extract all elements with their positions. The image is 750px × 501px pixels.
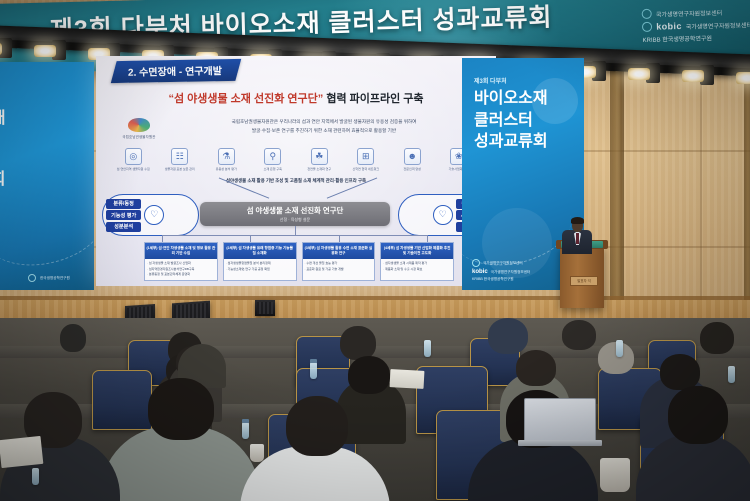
slide-icon-cell-0: ◎섬·연안지역 생물자원 수집 <box>113 148 153 172</box>
leaf-icon: ☘ <box>311 148 328 165</box>
sub-box-head: (3세부) 섬 자생생물 활용 수면 소재 표준화 실용화 연구 <box>303 243 375 259</box>
right-panel-line-2: 클러스터 <box>474 110 548 132</box>
sub-box-3: (4세부) 섬 자생생물 기반 산업화 제품화 추진 및 기술이전 고도화· 섬… <box>380 242 454 281</box>
sub-box-bullet: · 표준화 원료 및 가공 기술 개발 <box>305 267 373 272</box>
panel-logo-kobic: kobic <box>472 269 488 275</box>
microscope-icon: ⚗ <box>218 148 235 165</box>
speaker-tie <box>576 233 579 244</box>
audience-member <box>340 326 376 360</box>
diagram-connector <box>162 235 428 236</box>
spotlight-icon <box>736 72 750 84</box>
institute-emblem-icon <box>128 118 150 132</box>
diagram-connector <box>427 235 428 242</box>
podium-nameplate-label: 발표자 석 <box>571 277 597 285</box>
sub-box-1: (2세부) 섬 자생생물 유래 항염증 기능 기능물질 소재화· 섬자생생물항염… <box>223 242 297 281</box>
audience-member-head <box>348 356 390 394</box>
circle-mark-icon <box>28 274 36 282</box>
left-panel-line-1: 소재 <box>0 104 5 134</box>
slide-icon-cell-3: ⚲소재 은행 구축 <box>253 148 293 172</box>
slide-title-rest: 협력 파이프라인 구축 <box>323 93 423 105</box>
paper-cup <box>250 444 264 462</box>
panel-logo-1: 국가생명연구자원정보센터 <box>472 259 530 267</box>
conference-hall-photo: 제3회 다부처 바이오소재 클러스터 성과교류회 국가생명연구자원정보센터 ko… <box>0 0 750 501</box>
diagram-center-box: 섬 야생생물 소재 선진화 연구단 선정 · 육성형 설문 <box>200 202 390 226</box>
paper-handout <box>390 369 425 389</box>
sub-box-head: (1세부) 섬·연안 자생생물 소재 및 정보 활용 관리 기반 수집 <box>145 243 217 259</box>
right-panel-logos: 국가생명연구자원정보센터 kobic 국가생명연구자원정보센터 KRIBB 한국… <box>472 259 530 282</box>
water-bottle <box>32 468 39 485</box>
paper-handout <box>0 436 43 468</box>
left-panel-line-3: 류회 <box>0 165 5 195</box>
sub-box-head: (2세부) 섬 자생생물 유래 항염증 기능 기능물질 소재화 <box>224 243 296 259</box>
podium-nameplate: 발표자 석 <box>570 276 598 286</box>
slide-icon-caption: 생물자원 표본 보존 관리 <box>160 167 200 172</box>
diagram-connector <box>250 235 251 242</box>
slide-desc-line-1: 국립호남권생물자원관은 우리나라의 섬과 연안 지역에서 발굴된 생물자원의 유… <box>174 118 474 127</box>
water-bottle <box>616 340 623 357</box>
dna-swoosh-icon <box>0 181 94 275</box>
right-panel-line-1: 바이오소재 <box>474 88 548 110</box>
org-logo: 국립호남권생물자원관 <box>118 118 160 144</box>
left-panel-line-2: 터 <box>0 134 5 164</box>
slide-desc-line-2: 발굴·수집·보존 연구를 추진하기 위한 소재 관련하여 효율적으로 활용할 기… <box>174 127 474 136</box>
banner-logo-2: kobic 국가생명연구자원정보센터 <box>642 19 750 32</box>
chair <box>92 370 152 430</box>
slide-icon-cell-4: ☘천연물 소재화 연구 <box>299 148 339 172</box>
slide-icon-caption: 섬·연안지역 생물자원 수집 <box>113 167 153 172</box>
audience-member <box>488 318 528 354</box>
banner-logo-kobic: kobic <box>656 21 682 32</box>
sub-box-0: (1세부) 섬·연안 자생생물 소재 및 정보 활용 관리 기반 수집· 섬 자… <box>144 242 218 281</box>
panel-logo-2-sub: 국가생명연구자원정보센터 <box>491 270 531 275</box>
flask-icon: ⚲ <box>264 148 281 165</box>
slide-title-quoted: “섬 야생생물 소재 선진화 연구단” <box>168 93 323 105</box>
audience-member <box>60 324 86 352</box>
heart-dna-icon: ♡ <box>433 205 453 225</box>
left-panel-logo: 한국생명공학연구원 <box>28 274 70 282</box>
stage-backdrop-left-panel: 소재 터 류회 한국생명공학연구원 <box>0 62 94 290</box>
sub-box-body: · 섬 자생생물 소재 발굴조사 산업화· 섬지역환경자원조사분석연구DB구축·… <box>145 259 217 280</box>
slide-title: “섬 야생생물 소재 선진화 연구단” 협력 파이프라인 구축 <box>96 90 496 106</box>
water-bottle <box>424 340 431 357</box>
spotlight-icon <box>682 70 704 82</box>
panel-logo-2: kobic 국가생명연구자원정보센터 <box>472 269 530 275</box>
hall-banner-logos: 국가생명연구자원정보센터 kobic 국가생명연구자원정보센터 KRIBB 한국… <box>642 6 750 44</box>
slide-icon-cell-2: ⚗유용성 분석 평가 <box>206 148 246 172</box>
diagram-sub-boxes: (1세부) 섬·연안 자생생물 소재 및 정보 활용 관리 기반 수집· 섬 자… <box>144 242 454 281</box>
audience-member-head <box>286 396 348 456</box>
sub-box-head: (4세부) 섬 자생생물 기반 산업화 제품화 추진 및 기술이전 고도화 <box>381 243 453 259</box>
left-pill-0: 분류/동정 <box>106 199 141 209</box>
circle-mark-icon <box>472 259 480 267</box>
audience-member-head <box>148 378 214 440</box>
projection-screen: 2. 수면장애 - 연구개발 “섬 야생생물 소재 선진화 연구단” 협력 파이… <box>96 56 496 286</box>
panel-logo-3: KRIBB 한국생명공학연구원 <box>472 277 530 282</box>
right-panel-title: 바이오소재 클러스터 성과교류회 <box>474 88 548 153</box>
bottle-cap <box>310 359 317 363</box>
slide-icon-caption: 천연물 소재화 연구 <box>299 167 339 172</box>
diagram-left-oval: 분류/동정기능성 평가성분분석 ♡ <box>102 194 199 236</box>
sub-box-body: · 수면 개선 물질 효능 평가· 표준화 원료 및 가공 기술 개발 <box>303 259 375 275</box>
sub-box-bullet: · 기능성소재化 연구 가공 공정 확립 <box>226 267 294 272</box>
slide-description: 국립호남권생물자원관은 우리나라의 섬과 연안 지역에서 발굴된 생물자원의 유… <box>174 118 474 135</box>
heart-dna-icon: ♡ <box>144 205 164 225</box>
iced-coffee-cup <box>600 458 630 492</box>
spotlight-icon <box>628 68 650 80</box>
stage-monitor-extra <box>255 300 275 316</box>
left-pill-2: 성분분석 <box>106 222 141 232</box>
laptop-screen <box>524 398 596 444</box>
right-panel-line-3: 성과교류회 <box>474 131 548 153</box>
slide-icon-caption: 유용성 분석 평가 <box>206 167 246 172</box>
diagram-connector <box>339 235 340 242</box>
left-panel-logo-label: 한국생명공학연구원 <box>40 276 70 281</box>
laptop-base <box>518 440 602 446</box>
globe-icon: ◎ <box>125 148 142 165</box>
bottle-cap <box>242 419 249 423</box>
audience-member-head <box>660 354 700 390</box>
slide-icon-cell-5: ⊞산학연 협력 네트워크 <box>346 148 386 172</box>
slide-icon-cell-6: ☻전문인력 양성 <box>392 148 432 172</box>
panel-logo-1-label: 국가생명연구자원정보센터 <box>483 261 523 266</box>
audience-member-head <box>668 386 728 444</box>
network-icon: ⊞ <box>357 148 374 165</box>
sub-box-bullet: · 분류동정 및 표본관리체계 운영화 <box>147 272 215 277</box>
sub-box-body: · 섬자생생물항염물질 분석 분리정제· 기능성소재化 연구 가공 공정 확립 <box>224 259 296 275</box>
left-panel-title: 소재 터 류회 <box>0 104 5 195</box>
spotlight-icon <box>34 45 56 57</box>
slide-icon-caption: 전문인력 양성 <box>392 167 432 172</box>
audience-area <box>0 318 750 501</box>
center-box-line-1: 섬 야생생물 소재 선진화 연구단 <box>247 205 344 216</box>
water-bottle <box>728 366 735 383</box>
right-panel-small-line: 제3회 다부처 <box>474 76 507 85</box>
slide-icon-cell-1: ☷생물자원 표본 보존 관리 <box>160 148 200 172</box>
slide-icon-caption: 산학연 협력 네트워크 <box>346 167 386 172</box>
sub-box-body: · 섬자생생물 소재 시제품 제작 평가· 제품화 소재 및 수출 시장 확보 <box>381 259 453 275</box>
left-pill-1: 기능성 평가 <box>106 210 141 220</box>
audience-member-head <box>516 350 556 386</box>
banner-logo-1-label: 국가생명연구자원정보센터 <box>656 7 722 18</box>
people-icon: ☻ <box>404 148 421 165</box>
water-bottle <box>310 362 317 379</box>
slide-mid-note: 섬야생생물 소재 활용 기반 조성 및 고품질 소재 체계적 관리·활용 인프라… <box>96 178 496 184</box>
circle-mark-icon <box>642 22 652 32</box>
banner-logo-2-sub: 국가생명연구자원정보센터 <box>686 20 750 31</box>
audience-member <box>700 322 734 354</box>
banner-logo-3: KRIBB 한국생명공학연구원 <box>642 32 750 44</box>
monitor-grille <box>257 302 273 314</box>
diagram-connector <box>162 235 163 242</box>
circle-mark-icon <box>642 9 652 19</box>
building-icon: ☷ <box>171 148 188 165</box>
speaker-hair <box>571 217 584 224</box>
org-logo-caption: 국립호남권생물자원관 <box>118 134 160 139</box>
banner-logo-3-label: KRIBB 한국생명공학연구원 <box>642 33 712 44</box>
slide-icon-row: ◎섬·연안지역 생물자원 수집☷생물자원 표본 보존 관리⚗유용성 분석 평가⚲… <box>110 148 482 172</box>
audience-member <box>562 320 596 350</box>
panel-logo-3-label: KRIBB 한국생명공학연구원 <box>472 277 514 282</box>
slide-icon-caption: 소재 은행 구축 <box>253 167 293 172</box>
water-bottle <box>242 422 249 439</box>
diagram-connector <box>295 226 296 235</box>
sub-box-2: (3세부) 섬 자생생물 활용 수면 소재 표준화 실용화 연구· 수면 개선 … <box>302 242 376 281</box>
slide-section-tab: 2. 수면장애 - 연구개발 <box>111 59 241 83</box>
slide-section-tab-label: 2. 수면장애 - 연구개발 <box>128 62 222 79</box>
center-box-line-2: 선정 · 육성형 설문 <box>280 217 310 223</box>
sub-box-bullet: · 제품화 소재 및 수출 시장 확보 <box>383 267 451 272</box>
banner-logo-1: 국가생명연구자원정보센터 <box>642 6 750 19</box>
left-pill-stack: 분류/동정기능성 평가성분분석 <box>106 199 141 232</box>
